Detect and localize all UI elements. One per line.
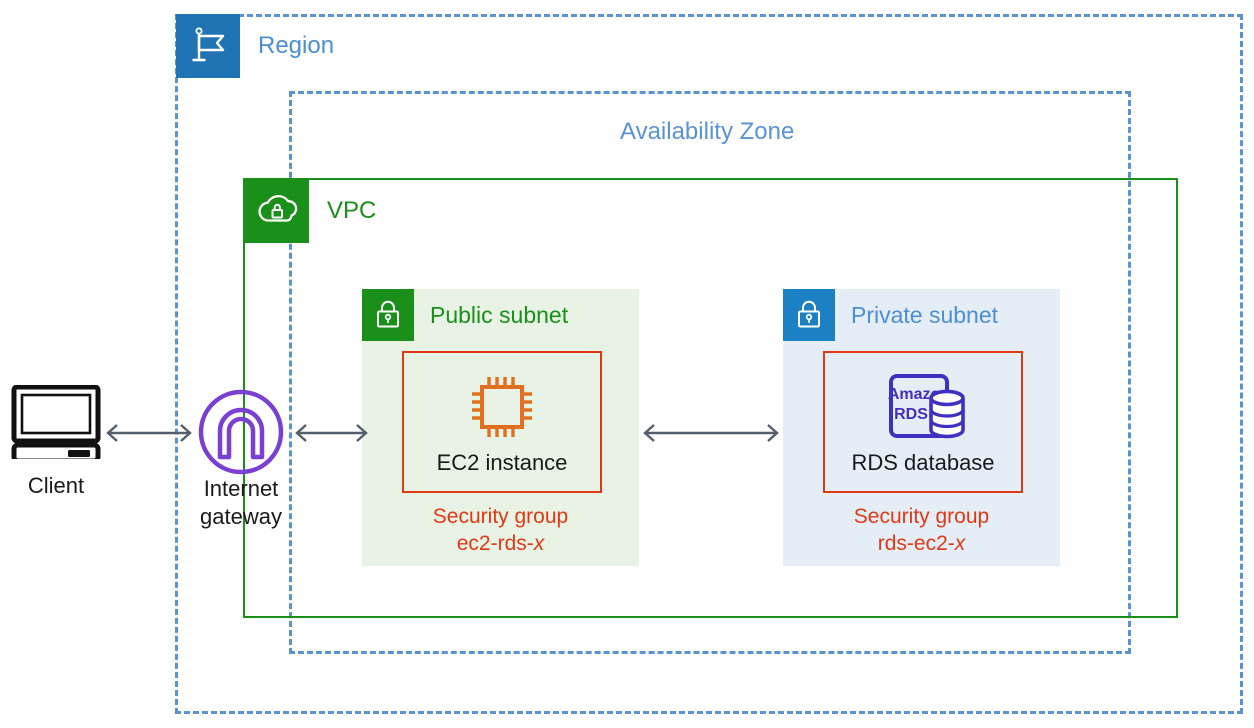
connection-ec2-rds (637, 420, 785, 446)
security-group-title: Security group (783, 503, 1060, 530)
ec2-instance-label: EC2 instance (437, 450, 568, 476)
region-flag-icon (176, 14, 240, 78)
region-badge: Region (176, 14, 334, 78)
security-group-caption-ec2: Security group ec2-rds-x (362, 503, 639, 557)
internet-gateway-label-line2: gateway (200, 504, 282, 529)
availability-zone-label: Availability Zone (620, 118, 794, 146)
padlock-icon (783, 289, 835, 341)
internet-gateway-node: Internet gateway (193, 387, 289, 482)
security-group-caption-rds: Security group rds-ec2-x (783, 503, 1060, 557)
public-subnet-badge: Public subnet (362, 289, 568, 341)
security-group-name-suffix: x (955, 532, 966, 555)
security-group-name: ec2-rds-x (362, 530, 639, 557)
ec2-chip-icon (463, 368, 541, 446)
internet-gateway-icon (196, 387, 286, 477)
desktop-computer-icon (11, 385, 101, 459)
subnet-private: Private subnet Amazon RDS (783, 289, 1060, 566)
internet-gateway-label: Internet gateway (185, 475, 297, 531)
subnet-public: Public subnet (362, 289, 639, 566)
aws-architecture-diagram: Region Availability Zone VPC Pub (0, 0, 1254, 728)
security-group-box-rds: Amazon RDS RDS database (823, 351, 1023, 493)
security-group-name-prefix: ec2-rds- (457, 532, 534, 555)
vpc-cloud-lock-icon (245, 179, 309, 243)
security-group-title: Security group (362, 503, 639, 530)
private-subnet-label: Private subnet (835, 302, 998, 329)
rds-database-label: RDS database (851, 450, 994, 476)
security-group-name: rds-ec2-x (783, 530, 1060, 557)
private-subnet-badge: Private subnet (783, 289, 998, 341)
rds-icon-text-line2: RDS (894, 406, 928, 423)
client-node: Client (8, 385, 104, 499)
connection-client-internet-gateway (100, 420, 198, 446)
client-label: Client (8, 473, 104, 499)
security-group-name-suffix: x (534, 532, 545, 555)
amazon-rds-icon: Amazon RDS (871, 368, 975, 446)
vpc-label: VPC (309, 179, 376, 243)
vpc-badge: VPC (245, 179, 376, 243)
padlock-icon (362, 289, 414, 341)
connection-internet-gateway-public-subnet (289, 420, 374, 446)
public-subnet-label: Public subnet (414, 302, 568, 329)
security-group-box-ec2: EC2 instance (402, 351, 602, 493)
region-label: Region (240, 14, 334, 78)
internet-gateway-label-line1: Internet (204, 476, 279, 501)
security-group-name-prefix: rds-ec2- (878, 532, 955, 555)
